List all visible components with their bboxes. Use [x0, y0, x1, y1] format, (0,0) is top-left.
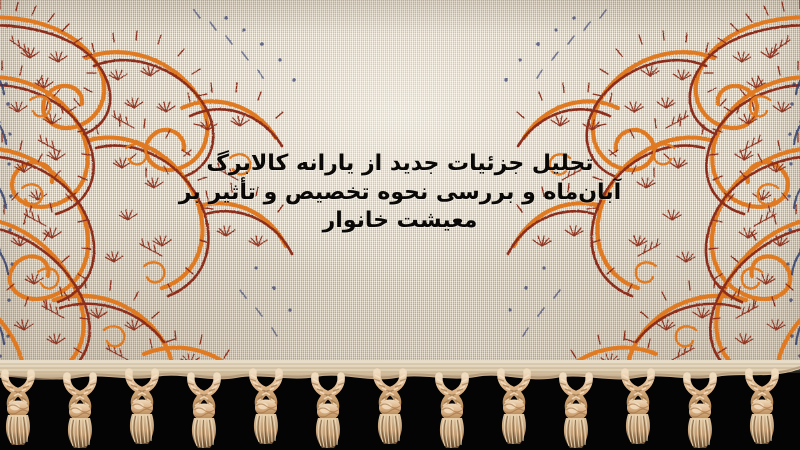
headline-line-2: آبان‌ماه و بررسی نحوه تخصیص و تأثیر بر [150, 179, 650, 208]
tassel-fringe [0, 360, 800, 450]
headline-line-3: معیشت خانوار [150, 207, 650, 236]
headline-line-1: تحلیل جزئیات جدید از یارانه کالابرگ [150, 150, 650, 179]
headline-text: تحلیل جزئیات جدید از یارانه کالابرگ آبان… [0, 150, 800, 236]
banner-image: تحلیل جزئیات جدید از یارانه کالابرگ آبان… [0, 0, 800, 450]
